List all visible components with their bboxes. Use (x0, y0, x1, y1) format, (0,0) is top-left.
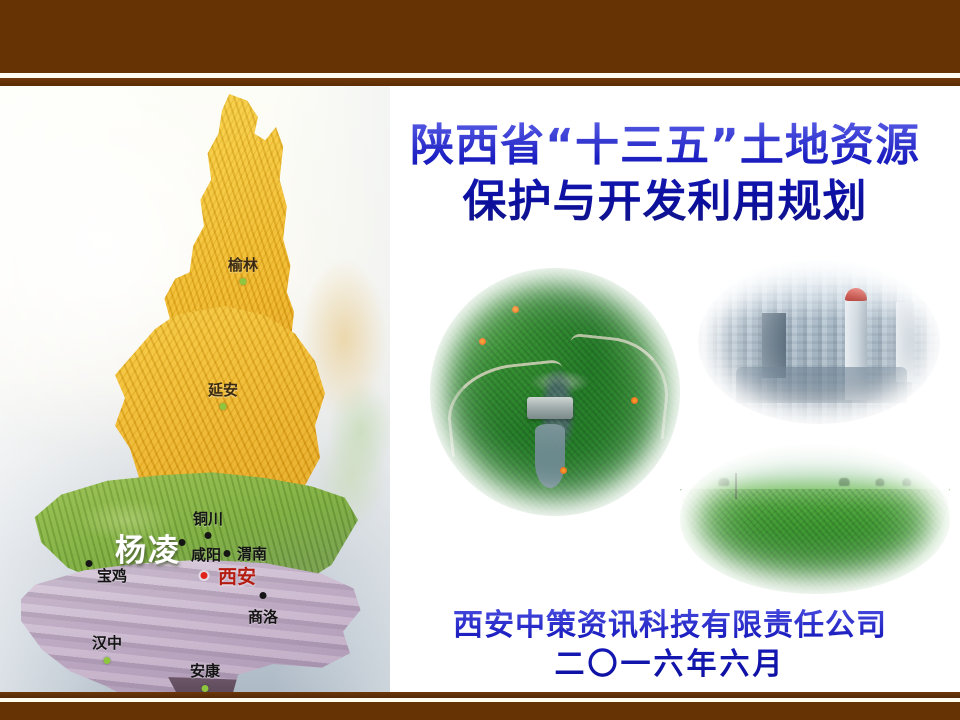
map-label-ankang: 安康 (190, 664, 220, 679)
farmland-photo (672, 436, 958, 602)
map-marker-green-icon (202, 685, 209, 692)
title-line-1: 陕西省“十三五”土地资源 (410, 120, 920, 171)
crop-field-texture (680, 489, 950, 594)
reservoir-water (535, 424, 565, 488)
map-marker-black-icon (260, 592, 267, 599)
footer-date: 二〇一六年六月 (380, 645, 960, 684)
map-marker-green-icon (220, 403, 227, 410)
page-title: 陕西省“十三五”土地资源 保护与开发利用规划 (370, 118, 960, 231)
map-marker-black-icon (205, 532, 212, 539)
map-label-baoji: 宝鸡 (97, 569, 127, 584)
bottom-banner-bar (0, 702, 960, 720)
shaanxi-relief-map-panel: 榆林 延安 铜川 咸阳 渭南 宝鸡 西安 商洛 (0, 86, 390, 692)
map-label-xianyang: 咸阳 (191, 548, 221, 563)
orange-flower-icon (512, 306, 519, 313)
map-label-yulin: 榆林 (228, 258, 258, 273)
map-marker-green-icon (104, 657, 111, 664)
mountain-dam-photo (420, 258, 690, 526)
presentation-slide: 榆林 延安 铜川 咸阳 渭南 宝鸡 西安 商洛 (0, 0, 960, 720)
orange-flower-icon (631, 397, 638, 404)
map-marker-black-icon (224, 550, 231, 557)
footer-credits: 西安中策资讯科技有限责任公司 二〇一六年六月 (380, 606, 960, 684)
map-label-tongchuan: 铜川 (193, 512, 223, 527)
map-marker-green-icon (240, 278, 247, 285)
map-label-hanzhong: 汉中 (92, 636, 122, 651)
map-label-weinan: 渭南 (237, 547, 267, 562)
cityscape-photo (690, 252, 948, 432)
footer-company-name: 西安中策资讯科技有限责任公司 (380, 606, 960, 645)
distant-treeline (706, 478, 929, 486)
title-line-2: 保护与开发利用规划 (463, 176, 868, 227)
top-accent-line (0, 78, 960, 86)
map-marker-capital-icon (201, 572, 208, 579)
map-label-shangluo: 商洛 (248, 610, 278, 625)
map-label-yangling: 杨凌 (115, 536, 181, 567)
map-label-yanan: 延安 (208, 383, 238, 398)
top-banner-bar (0, 0, 960, 73)
dam-structure (527, 397, 573, 419)
map-label-xian: 西安 (218, 568, 256, 587)
low-rise-roofs (736, 367, 906, 403)
map-marker-black-icon (86, 560, 93, 567)
